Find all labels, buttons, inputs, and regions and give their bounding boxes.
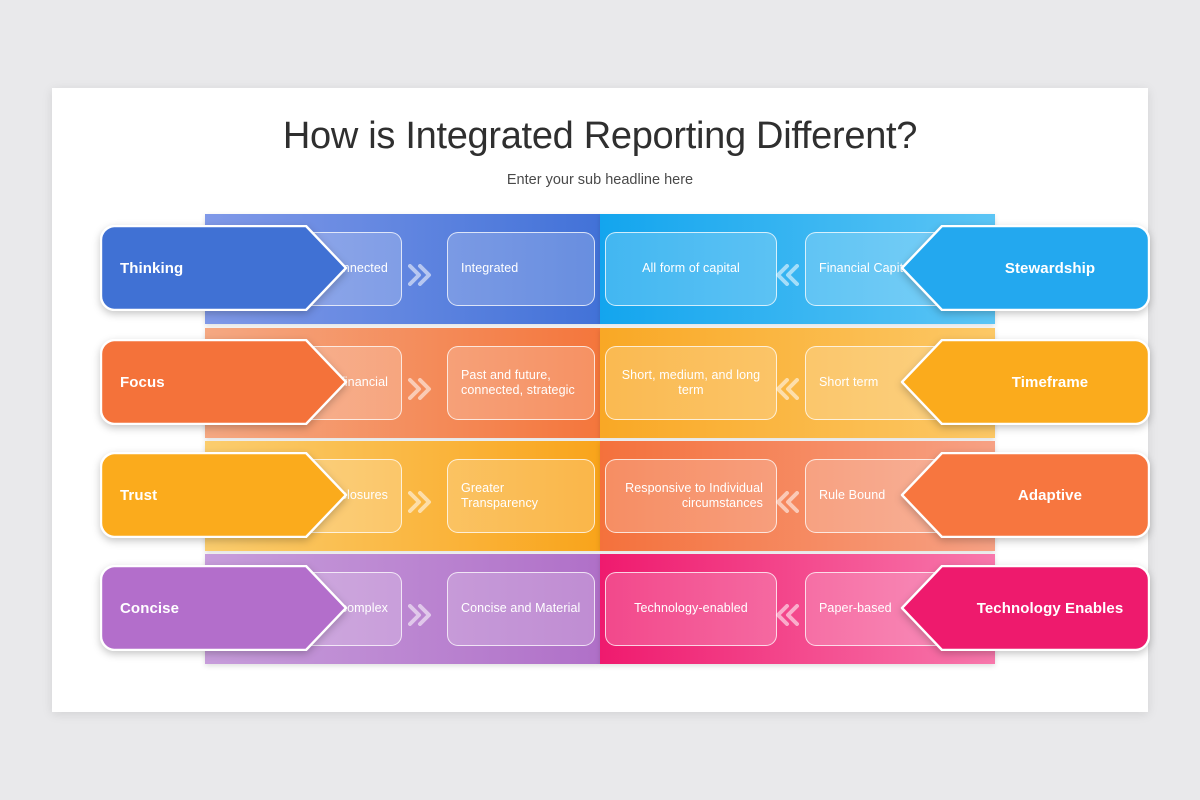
row-left-half: Long and complex Concise and Material Co… <box>205 554 600 664</box>
new-state-label: Short, medium, and long term <box>606 368 776 399</box>
new-state-box[interactable]: Greater Transparency <box>447 459 595 533</box>
double-chevron-right-icon <box>408 264 434 286</box>
double-chevron-right-icon <box>408 491 434 513</box>
new-state-box[interactable]: Past and future, connected, strategic <box>447 346 595 420</box>
category-tab-label: Adaptive <box>966 487 1150 504</box>
new-state-label: Greater Transparency <box>448 481 594 512</box>
new-state-box[interactable]: Responsive to Individual circumstances <box>605 459 777 533</box>
category-tab-label: Timeframe <box>966 374 1150 391</box>
slide-canvas: How is Integrated Reporting Different? E… <box>52 88 1148 712</box>
comparison-row: Disconnected Integrated Thinking All for… <box>52 214 1148 324</box>
category-tab[interactable]: Timeframe <box>900 339 1150 425</box>
category-tab[interactable]: Concise <box>100 565 348 651</box>
category-tab-label: Thinking <box>120 260 183 277</box>
page-title: How is Integrated Reporting Different? <box>52 115 1148 158</box>
double-chevron-left-icon <box>773 264 799 286</box>
category-tab-label: Focus <box>120 374 165 391</box>
category-tab[interactable]: Adaptive <box>900 452 1150 538</box>
comparison-row: Narrow Disclosures Greater Transparency … <box>52 441 1148 551</box>
double-chevron-left-icon <box>773 491 799 513</box>
row-left-half: Past, financial Past and future, connect… <box>205 328 600 438</box>
category-tab-label: Technology Enables <box>966 600 1150 617</box>
new-state-box[interactable]: Concise and Material <box>447 572 595 646</box>
row-right-half: Technology-enabled Paper-based Technolog… <box>600 554 995 664</box>
page-subtitle: Enter your sub headline here <box>52 172 1148 188</box>
new-state-box[interactable]: Integrated <box>447 232 595 306</box>
row-right-half: Responsive to Individual circumstances R… <box>600 441 995 551</box>
category-tab[interactable]: Focus <box>100 339 348 425</box>
row-right-half: Short, medium, and long term Short term … <box>600 328 995 438</box>
comparison-row: Long and complex Concise and Material Co… <box>52 554 1148 664</box>
category-tab[interactable]: Trust <box>100 452 348 538</box>
new-state-label: All form of capital <box>606 261 776 277</box>
category-tab[interactable]: Stewardship <box>900 225 1150 311</box>
category-tab[interactable]: Technology Enables <box>900 565 1150 651</box>
double-chevron-right-icon <box>408 378 434 400</box>
double-chevron-left-icon <box>773 378 799 400</box>
new-state-box[interactable]: Technology-enabled <box>605 572 777 646</box>
row-right-half: All form of capital Financial Capital St… <box>600 214 995 324</box>
comparison-row: Past, financial Past and future, connect… <box>52 328 1148 438</box>
row-left-half: Disconnected Integrated Thinking <box>205 214 600 324</box>
new-state-label: Technology-enabled <box>606 601 776 617</box>
category-tab-label: Stewardship <box>966 260 1150 277</box>
category-tab-label: Concise <box>120 600 179 617</box>
double-chevron-right-icon <box>408 604 434 626</box>
new-state-label: Integrated <box>448 261 594 277</box>
new-state-label: Past and future, connected, strategic <box>448 368 594 399</box>
double-chevron-left-icon <box>773 604 799 626</box>
new-state-box[interactable]: All form of capital <box>605 232 777 306</box>
new-state-box[interactable]: Short, medium, and long term <box>605 346 777 420</box>
category-tab-label: Trust <box>120 487 157 504</box>
new-state-label: Concise and Material <box>448 601 594 617</box>
category-tab[interactable]: Thinking <box>100 225 348 311</box>
row-left-half: Narrow Disclosures Greater Transparency … <box>205 441 600 551</box>
new-state-label: Responsive to Individual circumstances <box>606 481 776 512</box>
